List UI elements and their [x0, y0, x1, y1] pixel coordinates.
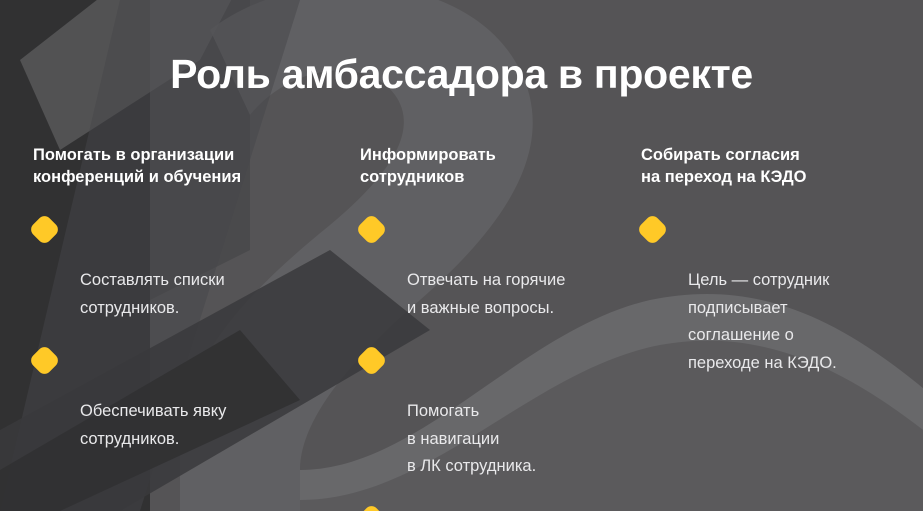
diamond-bullet-icon: [355, 503, 388, 511]
list-item: Рассказывать про проект, повышать лояльн…: [360, 502, 610, 511]
list-item: Составлять списки сотрудников.: [33, 212, 333, 322]
presentation-slide: Роль амбассадора в проекте Помогать в ор…: [0, 0, 923, 511]
column-header-2: Информировать сотрудников: [360, 144, 610, 188]
diamond-bullet-icon: [355, 344, 388, 377]
column-header-1: Помогать в организации конференций и обу…: [33, 144, 333, 188]
list-item-text: Отвечать на горячие и важные вопросы.: [407, 271, 565, 317]
diamond-bullet-icon: [28, 213, 61, 246]
bullet-list-2: Отвечать на горячие и важные вопросы. По…: [360, 212, 610, 511]
list-item-text: Помогать в навигации в ЛК сотрудника.: [407, 402, 536, 475]
diamond-bullet-icon: [28, 344, 61, 377]
content-column-3: Собирать согласия на переход на КЭДО Цел…: [641, 144, 891, 377]
list-item: Цель — сотрудник подписывает соглашение …: [641, 212, 891, 377]
content-column-2: Информировать сотрудников Отвечать на го…: [360, 144, 610, 511]
list-item: Помогать в навигации в ЛК сотрудника.: [360, 343, 610, 481]
page-title: Роль амбассадора в проекте: [0, 49, 923, 99]
list-item-text: Составлять списки сотрудников.: [80, 271, 225, 317]
list-item: Обеспечивать явку сотрудников.: [33, 343, 333, 453]
bullet-list-3: Цель — сотрудник подписывает соглашение …: [641, 212, 891, 377]
content-column-1: Помогать в организации конференций и обу…: [33, 144, 333, 453]
bullet-list-1: Составлять списки сотрудников. Обеспечив…: [33, 212, 333, 453]
list-item: Отвечать на горячие и важные вопросы.: [360, 212, 610, 322]
column-header-3: Собирать согласия на переход на КЭДО: [641, 144, 891, 188]
list-item-text: Цель — сотрудник подписывает соглашение …: [688, 271, 837, 372]
diamond-bullet-icon: [636, 213, 669, 246]
list-item-text: Обеспечивать явку сотрудников.: [80, 402, 226, 448]
diamond-bullet-icon: [355, 213, 388, 246]
